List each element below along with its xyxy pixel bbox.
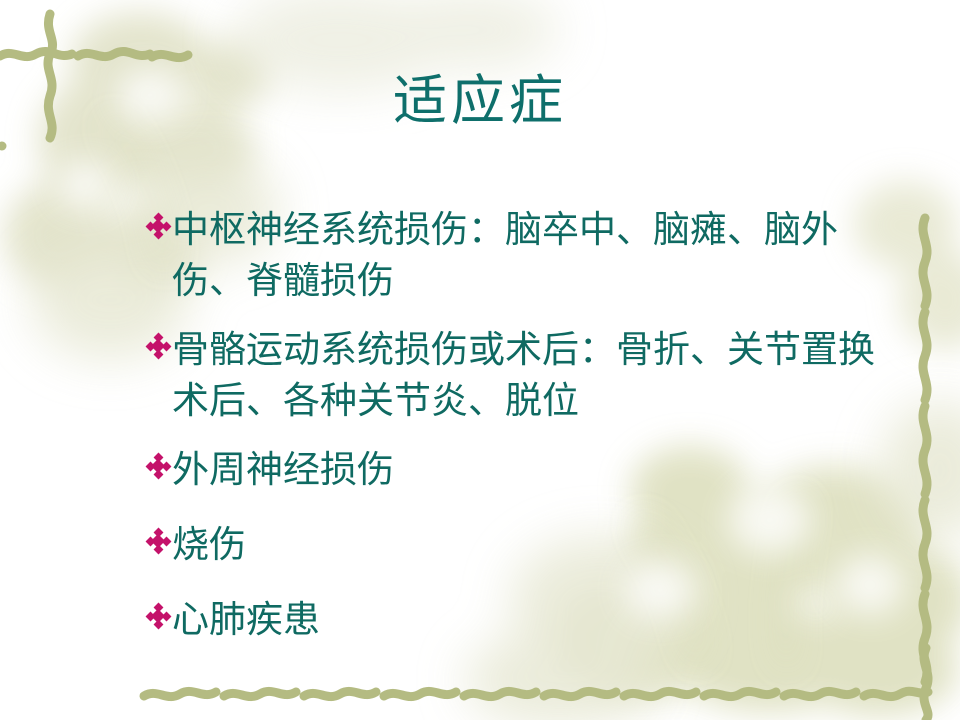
diamond-bullet-icon (146, 594, 172, 638)
list-item-label: 外周神经损伤 (172, 444, 886, 495)
bullet-list: 中枢神经系统损伤：脑卒中、脑瘫、脑外伤、脊髓损伤 骨骼运动系统损伤或术后：骨折、… (146, 204, 886, 663)
diamond-bullet-icon (146, 519, 172, 563)
slide-canvas: 适应症 中枢神经系统损伤：脑卒中、脑瘫、脑外伤、脊髓损伤 骨骼运动系统损伤或术后… (0, 0, 960, 720)
list-item[interactable]: 烧伤 (146, 519, 886, 570)
list-item[interactable]: 骨骼运动系统损伤或术后：骨折、关节置换术后、各种关节炎、脱位 (146, 324, 886, 426)
list-item-label: 骨骼运动系统损伤或术后：骨折、关节置换术后、各种关节炎、脱位 (172, 324, 886, 426)
page-title: 适应症 (0, 72, 960, 130)
list-item[interactable]: 心肺疾患 (146, 594, 886, 645)
bottom-right-cross-ornament (902, 644, 954, 720)
list-item[interactable]: 外周神经损伤 (146, 444, 886, 495)
right-vertical-ornament (900, 212, 950, 692)
bottom-horizontal-ornament (140, 672, 930, 716)
diamond-bullet-icon (146, 444, 172, 488)
diamond-bullet-icon (146, 324, 172, 368)
list-item-label: 烧伤 (172, 519, 886, 570)
list-item-label: 心肺疾患 (172, 594, 886, 645)
list-item[interactable]: 中枢神经系统损伤：脑卒中、脑瘫、脑外伤、脊髓损伤 (146, 204, 886, 306)
list-item-label: 中枢神经系统损伤：脑卒中、脑瘫、脑外伤、脊髓损伤 (172, 204, 886, 306)
diamond-bullet-icon (146, 204, 172, 248)
